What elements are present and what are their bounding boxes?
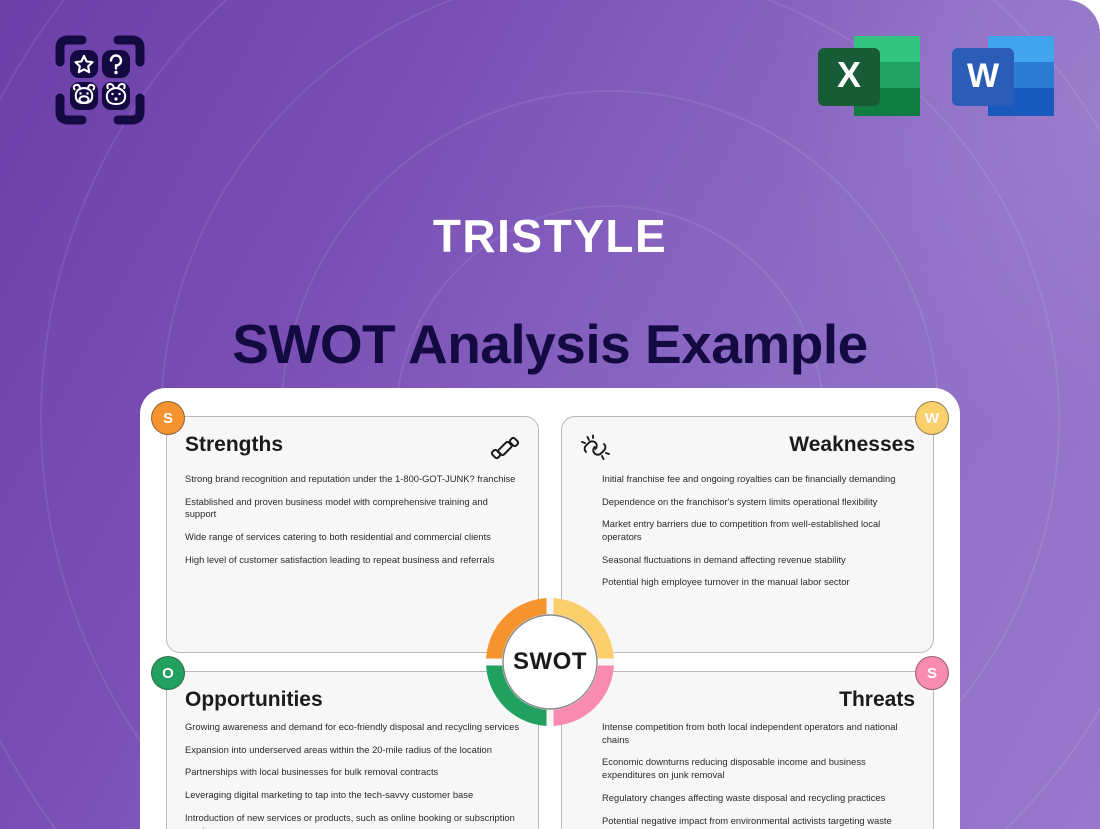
list-item: Partnerships with local businesses for b… bbox=[185, 766, 520, 779]
dumbbell-icon bbox=[490, 433, 520, 463]
excel-icon[interactable]: X bbox=[818, 30, 920, 122]
list-item: Introduction of new services or products… bbox=[185, 812, 520, 829]
weaknesses-header: Weaknesses bbox=[580, 433, 915, 463]
donut-center-label: SWOT bbox=[486, 648, 614, 676]
weaknesses-title: Weaknesses bbox=[789, 433, 915, 456]
list-item: Expansion into underserved areas within … bbox=[185, 744, 520, 757]
word-icon[interactable]: W bbox=[952, 30, 1054, 122]
list-item: Market entry barriers due to competition… bbox=[580, 518, 915, 543]
brand-name: TRISTYLE bbox=[0, 209, 1100, 263]
list-item: Regulatory changes affecting waste dispo… bbox=[580, 792, 915, 805]
list-item: Potential high employee turnover in the … bbox=[580, 576, 915, 589]
list-item: Potential negative impact from environme… bbox=[580, 815, 915, 829]
slide-canvas: X W TRISTYLE SWOT Analysis Example S Str… bbox=[0, 0, 1100, 829]
strengths-title: Strengths bbox=[185, 433, 283, 456]
word-icon-letter: W bbox=[967, 57, 1000, 95]
list-item: Leveraging digital marketing to tap into… bbox=[185, 789, 520, 802]
list-item: Initial franchise fee and ongoing royalt… bbox=[580, 473, 915, 486]
opportunities-header: Opportunities bbox=[185, 688, 520, 711]
threats-title: Threats bbox=[839, 688, 915, 711]
threats-list: Intense competition from both local inde… bbox=[580, 721, 915, 829]
broken-chain-icon bbox=[580, 433, 610, 463]
swot-board: S Strengths Strong brand recognition and… bbox=[140, 388, 960, 829]
badge-threats: S bbox=[915, 656, 949, 690]
quadrant-threats[interactable]: S Threats Intense competition from both … bbox=[561, 671, 934, 829]
office-icons-group: X W bbox=[818, 30, 1054, 122]
list-item: Dependence on the franchisor's system li… bbox=[580, 496, 915, 509]
list-item: Growing awareness and demand for eco-fri… bbox=[185, 721, 520, 734]
quadrant-opportunities[interactable]: O Opportunities Growing awareness and de… bbox=[166, 671, 539, 829]
quadrant-weaknesses[interactable]: W Weaknesses Initial franchise fee and o… bbox=[561, 416, 934, 653]
list-item: High level of customer satisfaction lead… bbox=[185, 554, 520, 567]
badge-strengths: S bbox=[151, 401, 185, 435]
list-item: Strong brand recognition and reputation … bbox=[185, 473, 520, 486]
strengths-header: Strengths bbox=[185, 433, 520, 463]
swot-grid: S Strengths Strong brand recognition and… bbox=[166, 416, 934, 829]
strengths-list: Strong brand recognition and reputation … bbox=[185, 473, 520, 566]
list-item: Economic downturns reducing disposable i… bbox=[580, 756, 915, 781]
list-item: Established and proven business model wi… bbox=[185, 496, 520, 521]
list-item: Intense competition from both local inde… bbox=[580, 721, 915, 746]
page-title: SWOT Analysis Example bbox=[0, 312, 1100, 376]
list-item: Seasonal fluctuations in demand affectin… bbox=[580, 554, 915, 567]
threats-header: Threats bbox=[580, 688, 915, 711]
animal-quiz-logo bbox=[48, 28, 152, 132]
list-item: Wide range of services catering to both … bbox=[185, 531, 520, 544]
weaknesses-list: Initial franchise fee and ongoing royalt… bbox=[580, 473, 915, 589]
opportunities-list: Growing awareness and demand for eco-fri… bbox=[185, 721, 520, 829]
excel-icon-letter: X bbox=[837, 54, 861, 95]
swot-donut: SWOT bbox=[486, 598, 614, 726]
opportunities-title: Opportunities bbox=[185, 688, 323, 711]
badge-weaknesses: W bbox=[915, 401, 949, 435]
badge-opportunities: O bbox=[151, 656, 185, 690]
quadrant-strengths[interactable]: S Strengths Strong brand recognition and… bbox=[166, 416, 539, 653]
